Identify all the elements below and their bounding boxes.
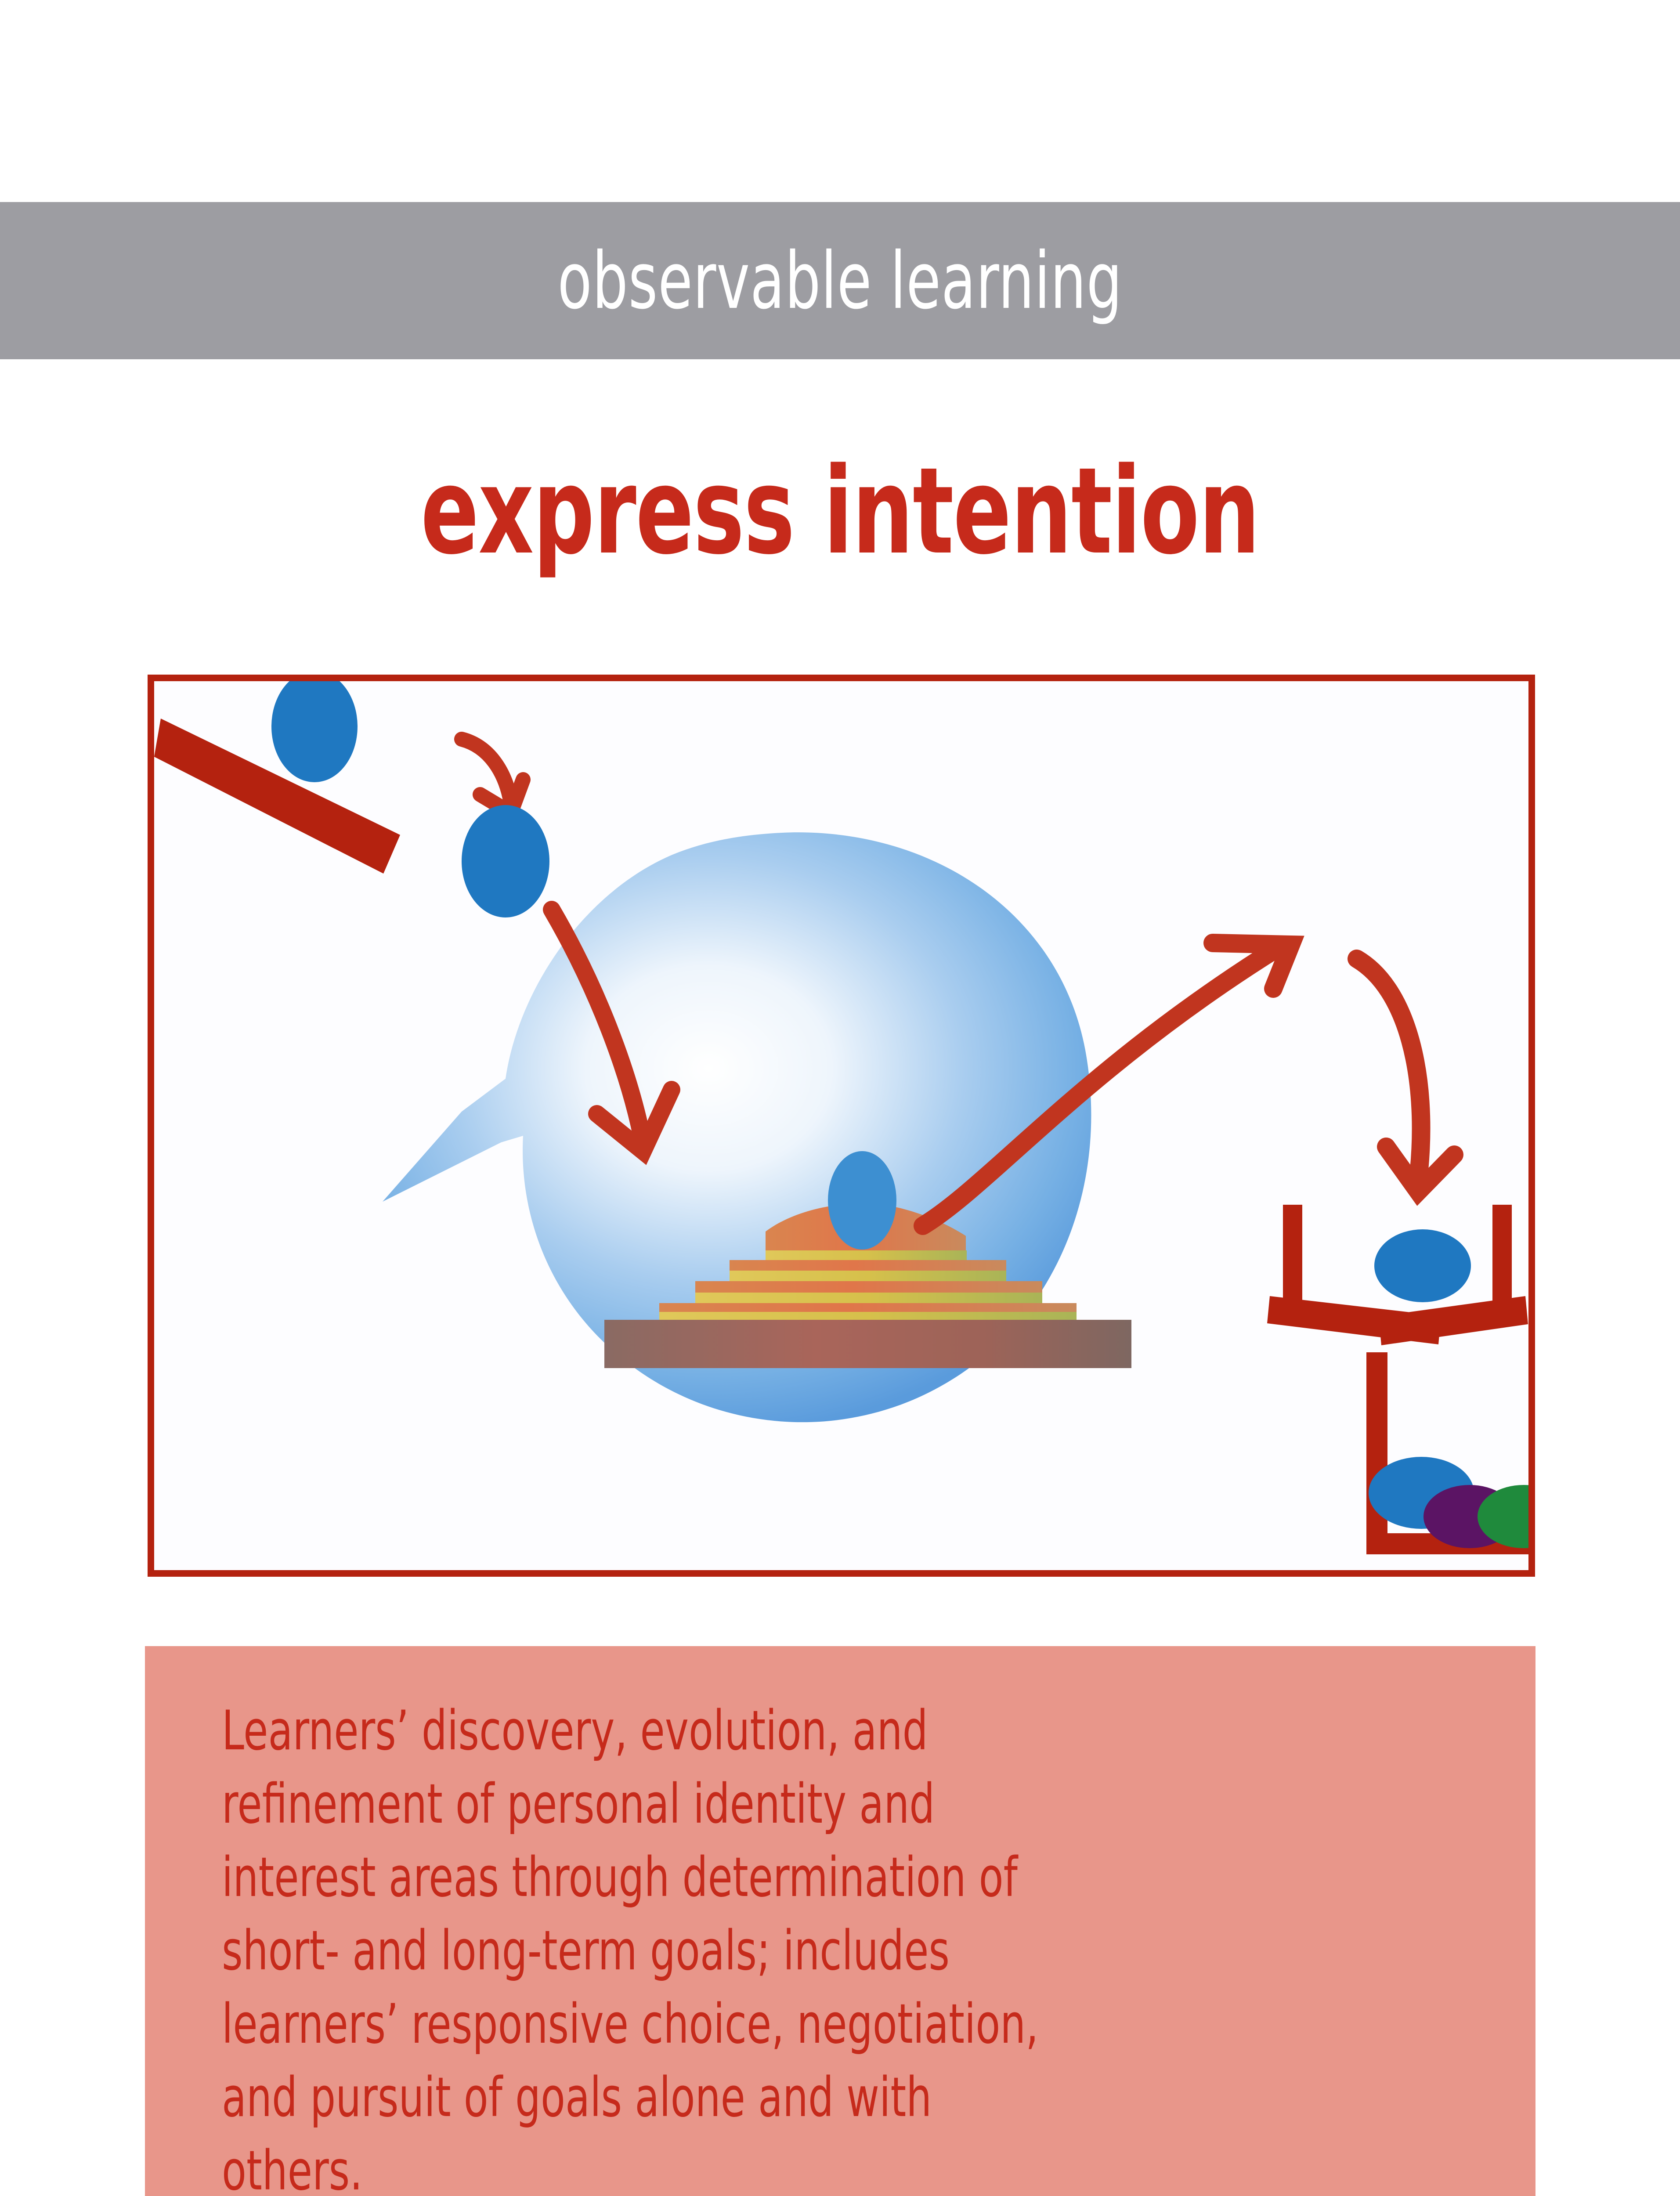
illustration-frame xyxy=(148,675,1535,1577)
description-text: Learners’ discovery, evolution, and refi… xyxy=(222,1694,1259,2196)
airborne-dot xyxy=(462,805,549,917)
kicker-label: observable learning xyxy=(168,205,1512,357)
falling-dot xyxy=(1374,1229,1471,1302)
standing-figure xyxy=(828,1151,896,1250)
hook-arrow xyxy=(462,739,523,813)
page-title: express intention xyxy=(168,433,1512,591)
launch-dot xyxy=(271,681,358,782)
descending-arrow xyxy=(1357,959,1454,1192)
description-panel: Learners’ discovery, evolution, and refi… xyxy=(145,1646,1535,2196)
illustration-svg xyxy=(154,681,1528,1570)
